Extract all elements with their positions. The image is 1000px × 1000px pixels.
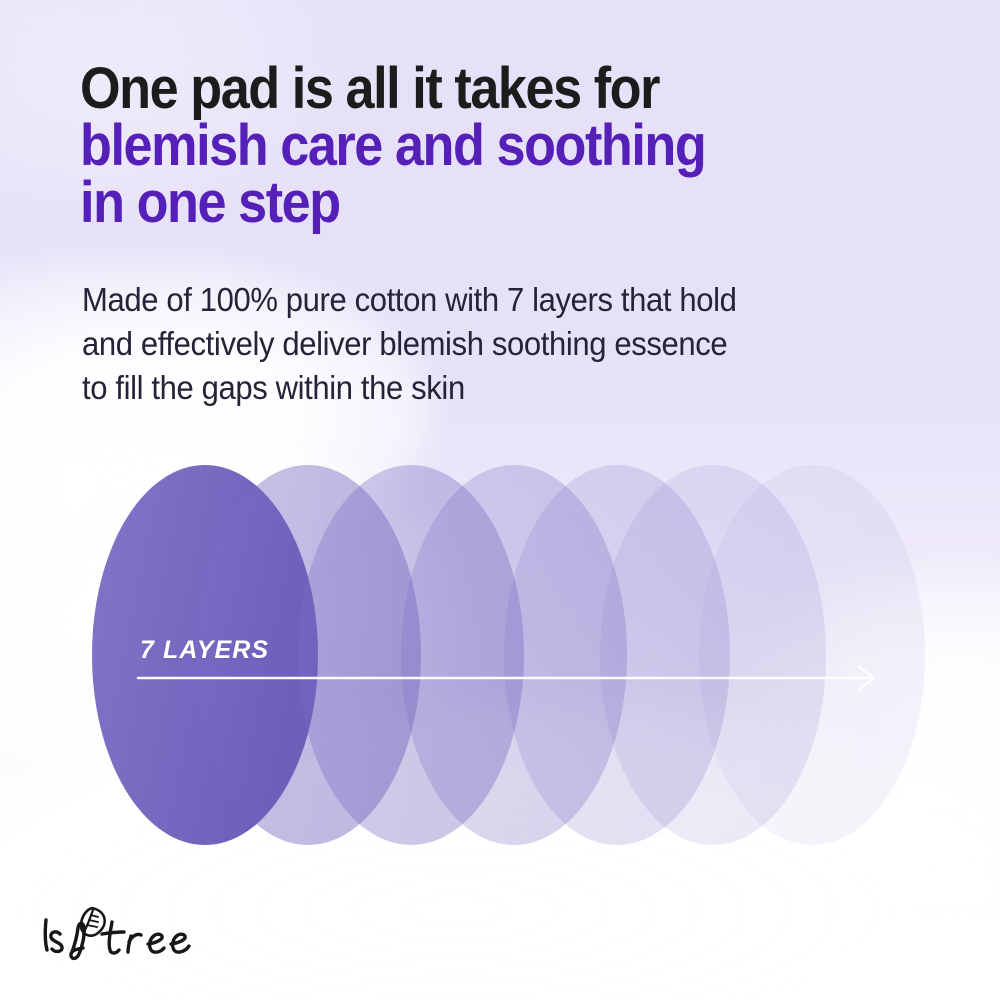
brand-logo xyxy=(36,900,246,970)
promo-banner: One pad is all it takes for blemish care… xyxy=(0,0,1000,1000)
seven-layers-caption: 7 LAYERS xyxy=(140,636,269,665)
layer-ellipse-7 xyxy=(699,465,925,845)
leaf-icon xyxy=(81,908,105,936)
seven-layer-diagram xyxy=(0,0,1000,1000)
